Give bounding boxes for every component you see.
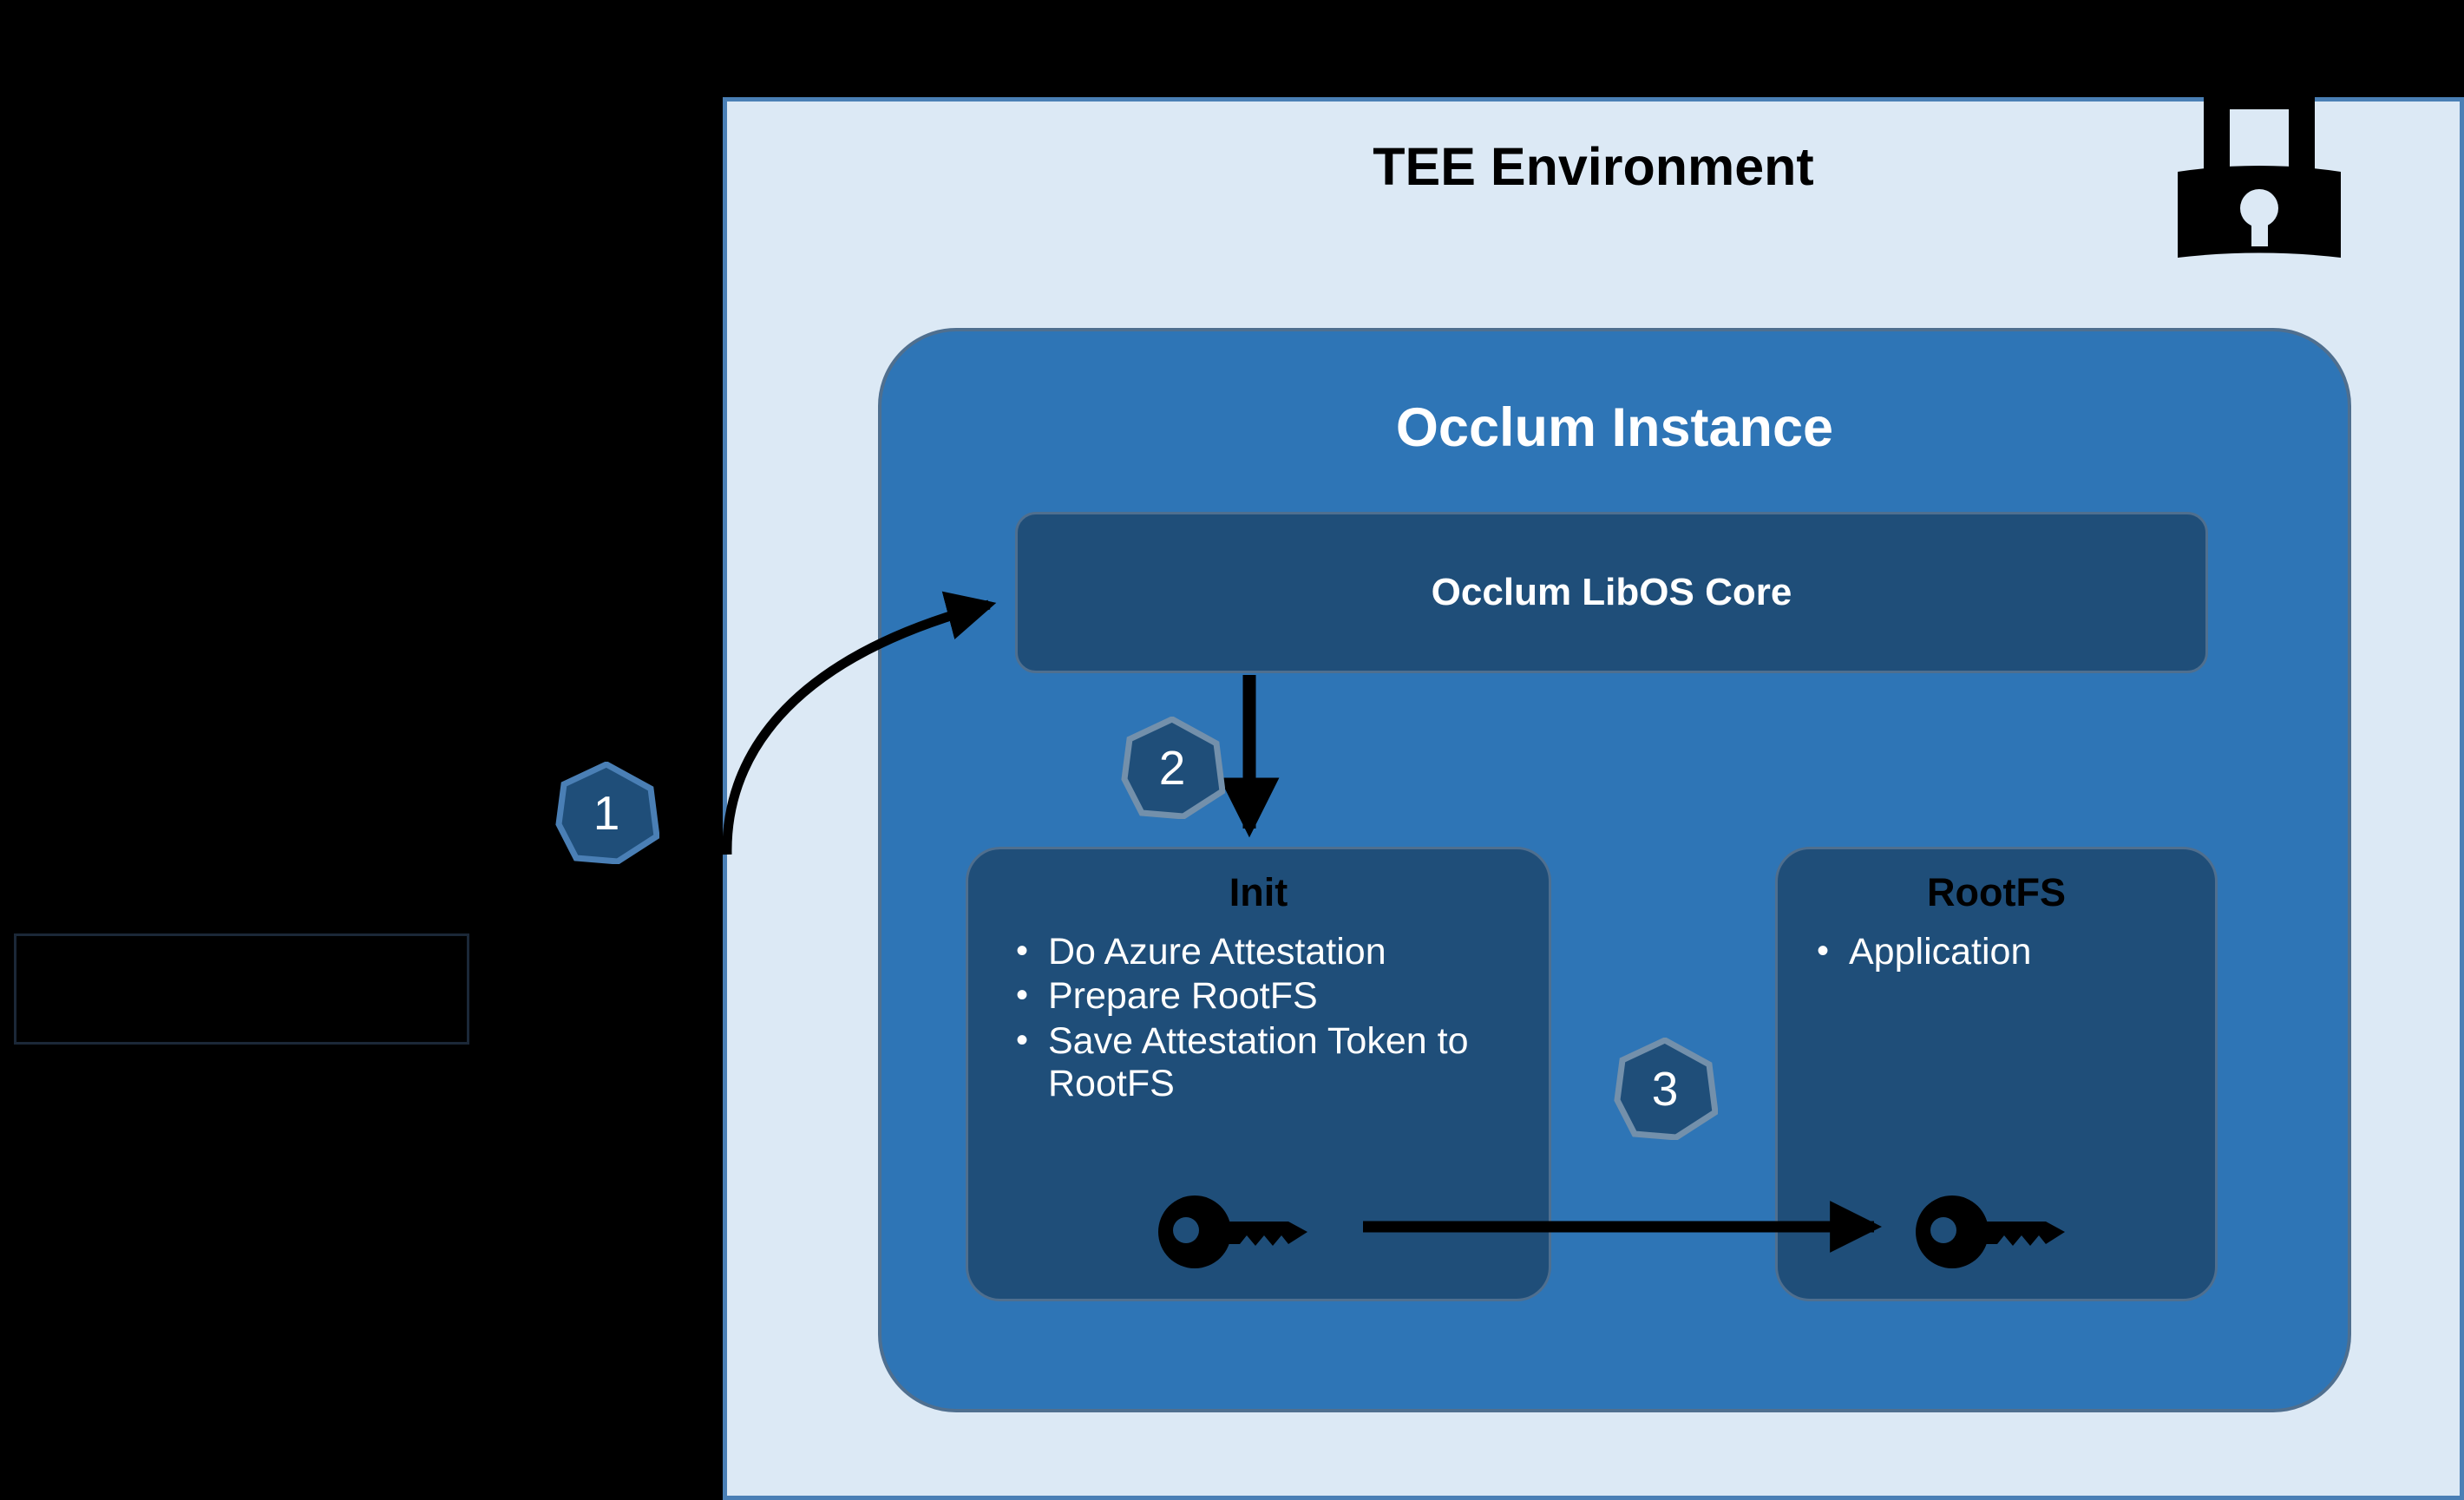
step-badge-1: 1 <box>554 762 659 864</box>
step-badge-3-label: 3 <box>1612 1038 1718 1140</box>
list-item: Do Azure Attestation <box>994 931 1532 973</box>
init-title: Init <box>968 870 1549 915</box>
init-bullet-list: Do Azure Attestation Prepare RootFS Save… <box>994 931 1532 1108</box>
list-item: Application <box>1795 931 2203 973</box>
step-badge-2-label: 2 <box>1119 717 1225 819</box>
rootfs-bullet-list: Application <box>1795 931 2203 973</box>
key-icon <box>1158 1195 1314 1268</box>
occlum-libos-core-label: Occlum LibOS Core <box>1432 571 1792 614</box>
step-badge-3: 3 <box>1612 1038 1718 1140</box>
list-item: Save Attestation Token to RootFS <box>994 1020 1532 1106</box>
occlum-libos-core-box: Occlum LibOS Core <box>1015 512 2208 673</box>
key-icon <box>1916 1195 2072 1268</box>
list-item: Prepare RootFS <box>994 975 1532 1018</box>
lock-icon <box>2172 97 2346 258</box>
occlum-instance-title: Occlum Instance <box>881 396 2348 459</box>
empty-placeholder-box <box>14 933 469 1045</box>
rootfs-title: RootFS <box>1778 870 2215 915</box>
diagram-canvas: TEE Environment Occlum Instance Occlum L… <box>0 0 2464 1500</box>
step-badge-1-label: 1 <box>554 762 659 864</box>
step-badge-2: 2 <box>1119 717 1225 819</box>
